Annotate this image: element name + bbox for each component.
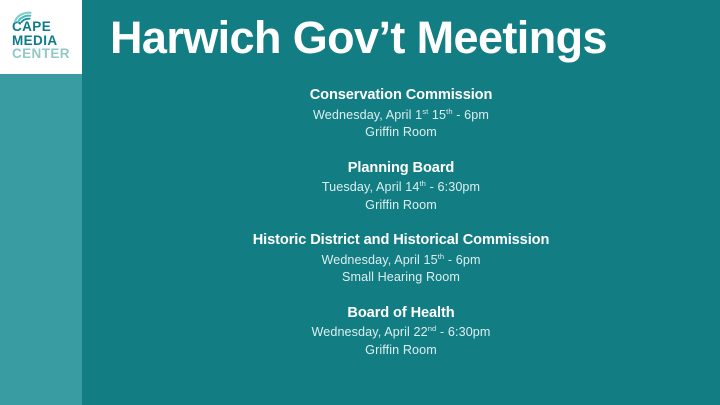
meeting-date-mid: 15 [428,108,446,122]
meeting-date: Wednesday, April 22 [311,325,427,339]
meeting-time: - 6:30pm [436,325,490,339]
meeting-room: Small Hearing Room [82,269,720,287]
meeting-time: - 6:30pm [426,180,480,194]
list-item: Planning Board Tuesday, April 14th - 6:3… [82,159,720,215]
meeting-room: Griffin Room [82,124,720,142]
page-title: Harwich Gov’t Meetings [110,13,710,63]
meeting-date: Wednesday, April 15 [321,253,437,267]
meeting-name: Conservation Commission [82,86,720,106]
wifi-signal-icon [13,8,37,23]
meeting-name: Board of Health [82,304,720,324]
meeting-name: Historic District and Historical Commiss… [82,231,720,251]
meeting-datetime: Tuesday, April 14th - 6:30pm [82,178,720,196]
logo-wordmark: CAPE MEDIA CENTER [12,20,70,61]
meeting-list: Conservation Commission Wednesday, April… [82,86,720,376]
meeting-date: Wednesday, April 1 [313,108,422,122]
meeting-time: - 6pm [444,253,480,267]
meeting-date: Tuesday, April 14 [322,180,420,194]
meeting-time: - 6pm [453,108,489,122]
meeting-name: Planning Board [82,159,720,179]
meeting-datetime: Wednesday, April 22nd - 6:30pm [82,323,720,341]
slide-canvas: CAPE MEDIA CENTER Harwich Gov’t Meetings… [0,0,720,405]
list-item: Conservation Commission Wednesday, April… [82,86,720,142]
list-item: Board of Health Wednesday, April 22nd - … [82,304,720,360]
meeting-room: Griffin Room [82,342,720,360]
meeting-room: Griffin Room [82,197,720,215]
meeting-datetime: Wednesday, April 15th - 6pm [82,251,720,269]
list-item: Historic District and Historical Commiss… [82,231,720,287]
logo-line-media: MEDIA [12,34,70,48]
meeting-datetime: Wednesday, April 1st 15th - 6pm [82,106,720,124]
logo-line-center: CENTER [12,47,70,61]
logo-plate: CAPE MEDIA CENTER [0,0,82,74]
